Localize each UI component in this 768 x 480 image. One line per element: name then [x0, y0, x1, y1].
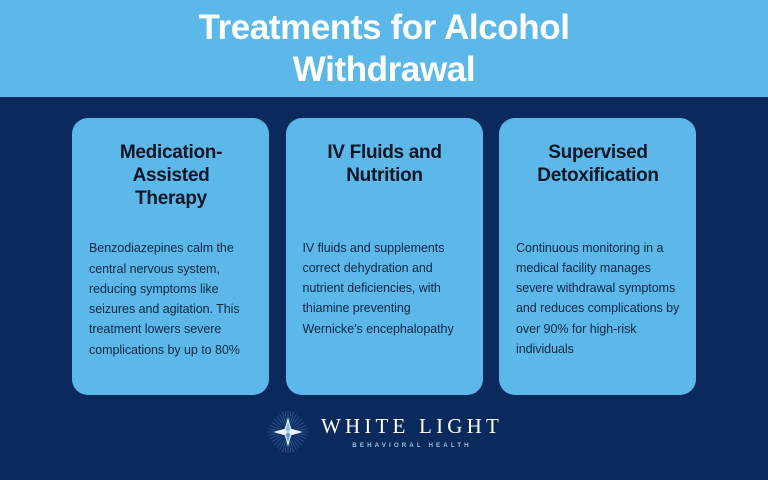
infographic-page: Treatments for Alcohol Withdrawal Medica…: [0, 0, 768, 480]
logo-wordmark: WHITE LIGHT BEHAVIORAL HEALTH: [321, 414, 503, 449]
card-body-text: Continuous monitoring in a medical facil…: [516, 238, 680, 360]
card-title: Supervised Detoxification: [516, 142, 680, 188]
card-title: IV Fluids and Nutrition: [303, 142, 467, 188]
treatment-card-medication-assisted-therapy: Medication- Assisted Therapy Benzodiazep…: [72, 118, 269, 395]
treatment-card-iv-fluids-and-nutrition: IV Fluids and Nutrition IV fluids and su…: [286, 118, 483, 395]
treatment-cards-row: Medication- Assisted Therapy Benzodiazep…: [72, 118, 696, 395]
brand-logo: WHITE LIGHT BEHAVIORAL HEALTH: [0, 408, 768, 456]
logo-tagline: BEHAVIORAL HEALTH: [352, 443, 471, 449]
card-body-text: IV fluids and supplements correct dehydr…: [303, 238, 467, 339]
four-point-star-burst-icon: [265, 409, 311, 455]
page-title: Treatments for Alcohol Withdrawal: [198, 7, 569, 90]
header-band: Treatments for Alcohol Withdrawal: [0, 0, 768, 97]
treatment-card-supervised-detoxification: Supervised Detoxification Continuous mon…: [499, 118, 696, 395]
logo-name: WHITE LIGHT: [321, 416, 503, 437]
card-title: Medication- Assisted Therapy: [89, 142, 253, 210]
card-body-text: Benzodiazepines calm the central nervous…: [89, 238, 253, 360]
